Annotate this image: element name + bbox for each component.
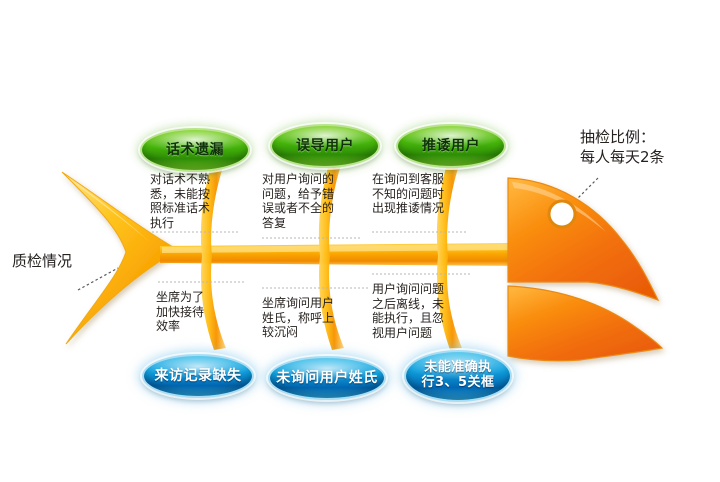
cause-label-top-1-text: 话术遗漏 xyxy=(166,143,224,158)
fish-head xyxy=(508,178,662,361)
note-underlines xyxy=(152,232,470,288)
head-caption: 抽检比例： 每人每天2条 xyxy=(580,128,665,167)
cause-label-bottom-1[interactable]: 来访记录缺失 xyxy=(142,354,254,398)
cause-note-bottom-1: 坐席为了 加快接待 效率 xyxy=(156,290,226,334)
cause-label-top-2[interactable]: 误导用户 xyxy=(270,124,380,168)
fish-spine xyxy=(160,243,520,266)
cause-note-bottom-2: 坐席询问用户 姓氏，称呼上 较沉闷 xyxy=(262,296,356,340)
cause-label-bottom-3-text: 未能准确执 行3、5关框 xyxy=(421,361,494,390)
cause-label-bottom-3[interactable]: 未能准确执 行3、5关框 xyxy=(404,350,512,402)
effect-label: 质检情况 xyxy=(12,252,72,272)
cause-label-top-3-text: 推诿用户 xyxy=(422,139,480,154)
cause-label-top-1[interactable]: 话术遗漏 xyxy=(140,128,250,172)
cause-note-bottom-3: 用户询问问题 之后离线，未 能执行，且忽 视用户问题 xyxy=(372,282,466,341)
cause-note-top-1: 对话术不熟 悉，未能按 照标准话术 执行 xyxy=(150,172,228,231)
cause-label-top-2-text: 误导用户 xyxy=(296,139,354,154)
leader-line-head xyxy=(578,178,598,198)
fishbone-diagram-canvas: 话术遗漏 误导用户 推诿用户 对话术不熟 悉，未能按 照标准话术 执行 对用户询… xyxy=(0,0,720,482)
cause-label-bottom-1-text: 来访记录缺失 xyxy=(155,369,242,384)
cause-note-top-2: 对用户询问的 问题，给予错 误或者不全的 答复 xyxy=(262,172,354,231)
cause-label-bottom-2[interactable]: 未询问用户姓氏 xyxy=(268,356,386,400)
leader-line-effect xyxy=(78,268,118,290)
cause-note-top-3: 在询问到客服 不知的问题时 出现推诿情况 xyxy=(372,172,464,216)
cause-label-bottom-2-text: 未询问用户姓氏 xyxy=(276,371,378,386)
cause-label-top-3[interactable]: 推诿用户 xyxy=(396,124,506,168)
fishbone-skeleton-graphic xyxy=(0,0,720,482)
